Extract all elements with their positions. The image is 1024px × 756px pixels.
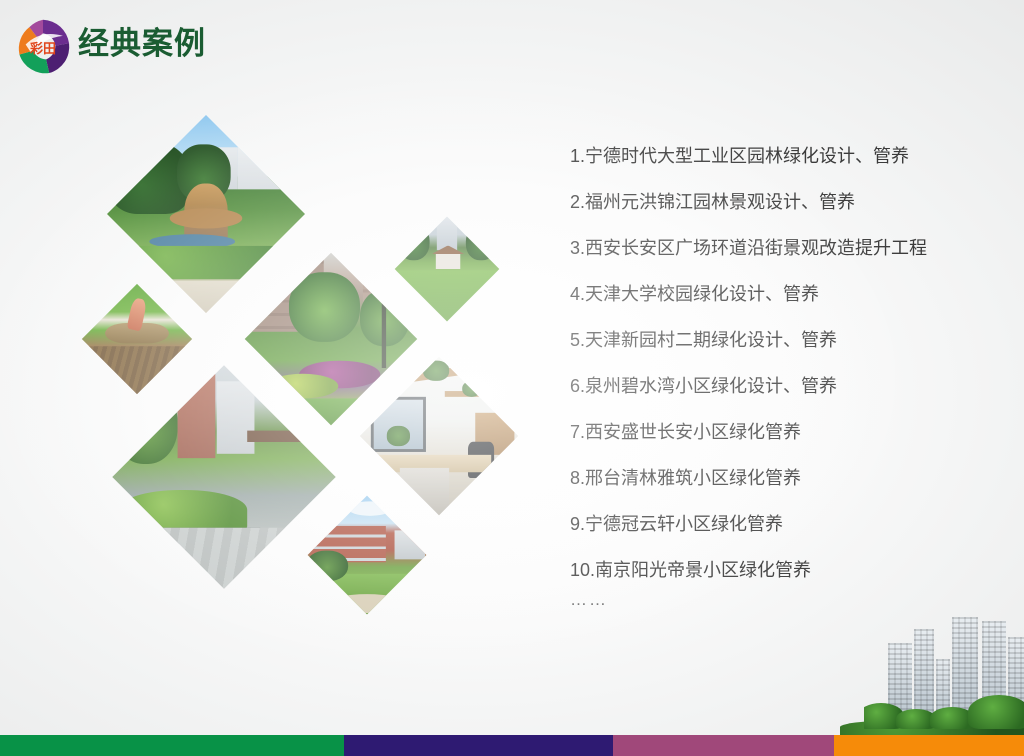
list-item: 9.宁德冠云轩小区绿化管养 bbox=[570, 513, 990, 535]
photo-courtyard-path bbox=[112, 365, 335, 588]
photo-school-building bbox=[308, 496, 427, 615]
list-item: 2.福州元洪锦江园林景观设计、管养 bbox=[570, 191, 990, 213]
photo-collage bbox=[88, 108, 528, 638]
cityscape-skyline-decoration bbox=[864, 615, 1024, 735]
list-item: 1.宁德时代大型工业区园林绿化设计、管养 bbox=[570, 145, 990, 167]
list-item: 8.邢台清林雅筑小区绿化管养 bbox=[570, 467, 990, 489]
color-bar-purple-segment bbox=[344, 735, 613, 756]
list-item: 6.泉州碧水湾小区绿化设计、管养 bbox=[570, 375, 990, 397]
color-bar-magenta-segment bbox=[613, 735, 834, 756]
list-continuation-ellipsis: …… bbox=[570, 589, 990, 611]
case-list: 1.宁德时代大型工业区园林绿化设计、管养 2.福州元洪锦江园林景观设计、管养 3… bbox=[570, 145, 990, 635]
list-item: 3.西安长安区广场环道沿街景观改造提升工程 bbox=[570, 237, 990, 259]
list-item: 10.南京阳光帝景小区绿化管养 bbox=[570, 559, 990, 581]
color-bar-green-segment bbox=[0, 735, 344, 756]
color-bar-orange-segment bbox=[834, 735, 1024, 756]
list-item: 7.西安盛世长安小区绿化管养 bbox=[570, 421, 990, 443]
footer-color-bar bbox=[0, 735, 1024, 756]
photo-turf-laying bbox=[82, 284, 192, 394]
list-item: 4.天津大学校园绿化设计、管养 bbox=[570, 283, 990, 305]
photo-residential-greenery bbox=[245, 253, 418, 426]
photo-office-interior bbox=[360, 357, 518, 515]
slide-header: 彩田 经典案例 bbox=[0, 0, 1024, 88]
logo-text: 彩田 bbox=[29, 41, 56, 57]
photo-gazebo-lawn bbox=[395, 217, 500, 322]
page-title: 经典案例 bbox=[78, 24, 206, 64]
slide-canvas: 彩田 经典案例 bbox=[0, 0, 1024, 756]
caitian-logo: 彩田 bbox=[12, 16, 74, 78]
list-item: 5.天津新园村二期绿化设计、管养 bbox=[570, 329, 990, 351]
